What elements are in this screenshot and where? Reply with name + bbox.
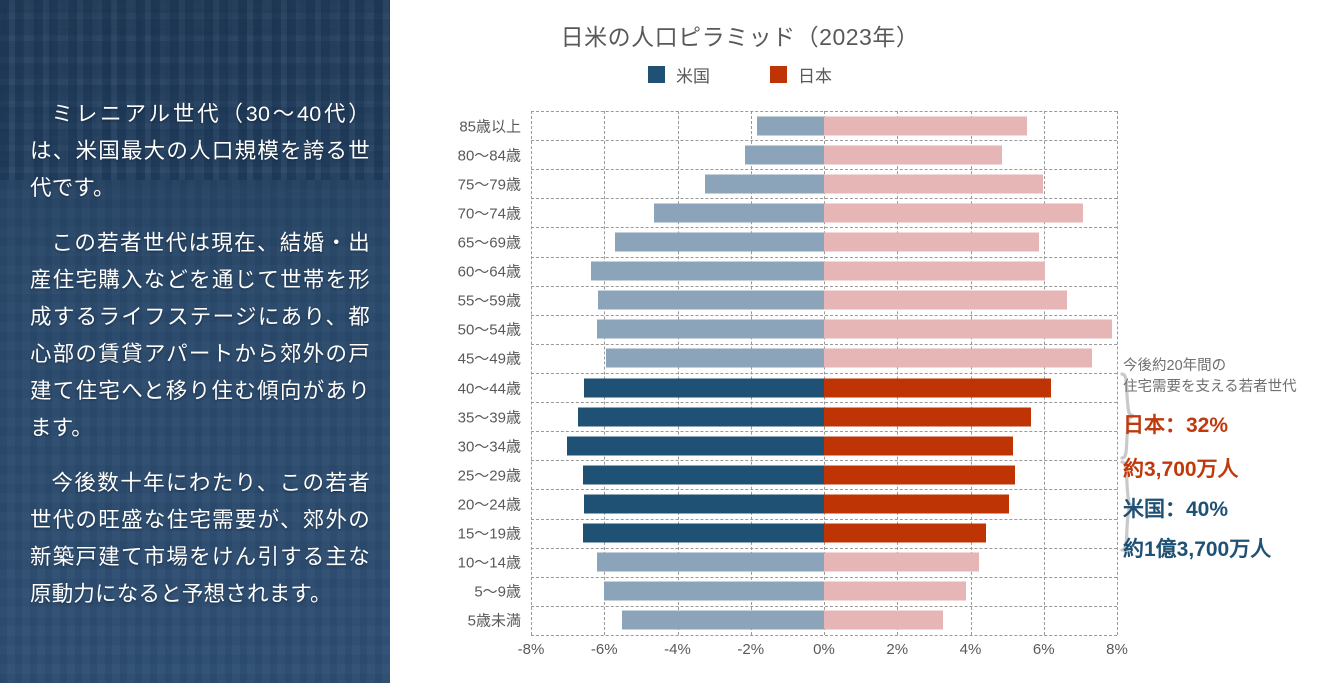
bar-japan[interactable] xyxy=(824,320,1112,339)
y-axis-label: 50〜54歳 xyxy=(458,319,521,340)
y-axis-label: 15〜19歳 xyxy=(458,523,521,544)
chart-row: 5〜9歳 xyxy=(531,577,1117,606)
legend-label-us: 米国 xyxy=(676,62,710,87)
y-axis-label: 65〜69歳 xyxy=(458,231,521,252)
x-axis-tick-label: -2% xyxy=(737,641,764,658)
y-axis-label: 30〜34歳 xyxy=(458,435,521,456)
x-axis-tick-label: 8% xyxy=(1106,641,1128,658)
x-axis-tick-label: -4% xyxy=(664,641,691,658)
bar-us[interactable] xyxy=(597,320,824,339)
annotation-note-line1: 今後約20年間の xyxy=(1123,356,1338,377)
bar-japan[interactable] xyxy=(824,611,943,630)
y-axis-label: 10〜14歳 xyxy=(458,552,521,573)
y-axis-label: 85歳以上 xyxy=(459,115,521,136)
gridline-vertical xyxy=(1117,111,1118,635)
chart-row: 75〜79歳 xyxy=(531,169,1117,198)
paragraph-2: この若者世代は現在、結婚・出産住宅購入などを通じて世帯を形成するライフステージに… xyxy=(30,225,370,447)
annotation-japan-people: 約3,700万人 xyxy=(1123,454,1338,486)
chart-row: 55〜59歳 xyxy=(531,286,1117,315)
bar-us[interactable] xyxy=(583,524,824,543)
bar-us[interactable] xyxy=(584,494,824,513)
annotation-block: 今後約20年間の 住宅需要を支える若者世代 日本：32% 約3,700万人 米国… xyxy=(1123,356,1338,566)
bar-japan[interactable] xyxy=(824,232,1039,251)
bar-us[interactable] xyxy=(598,291,824,310)
bar-us[interactable] xyxy=(591,262,824,281)
y-axis-label: 80〜84歳 xyxy=(458,144,521,165)
y-axis-label: 70〜74歳 xyxy=(458,202,521,223)
bar-us[interactable] xyxy=(567,436,824,455)
chart-row: 10〜14歳 xyxy=(531,548,1117,577)
bar-us[interactable] xyxy=(622,611,824,630)
legend-item-jp[interactable]: 日本 xyxy=(770,62,832,87)
bar-us[interactable] xyxy=(606,349,824,368)
chart-legend: 米国 日本 xyxy=(390,62,1090,87)
y-axis-label: 25〜29歳 xyxy=(458,464,521,485)
chart-row: 40〜44歳 xyxy=(531,373,1117,402)
bar-us[interactable] xyxy=(705,174,824,193)
chart-row: 35〜39歳 xyxy=(531,402,1117,431)
bar-japan[interactable] xyxy=(824,553,979,572)
paragraph-1: ミレニアル世代（30〜40代）は、米国最大の人口規模を誇る世代です。 xyxy=(30,96,370,207)
bar-japan[interactable] xyxy=(824,582,966,601)
chart-title: 日米の人口ピラミッド（2023年） xyxy=(390,18,1090,52)
left-text-panel: ミレニアル世代（30〜40代）は、米国最大の人口規模を誇る世代です。 この若者世… xyxy=(0,0,390,683)
chart-row: 65〜69歳 xyxy=(531,227,1117,256)
x-axis-tick-label: -6% xyxy=(591,641,618,658)
annotation-note-line2: 住宅需要を支える若者世代 xyxy=(1123,377,1338,398)
bar-us[interactable] xyxy=(615,232,824,251)
bar-us[interactable] xyxy=(654,203,824,222)
x-axis-tick-label: 4% xyxy=(960,641,982,658)
bar-japan[interactable] xyxy=(824,465,1015,484)
annotation-japan-pct: 日本：32% xyxy=(1123,410,1338,442)
bar-japan[interactable] xyxy=(824,494,1009,513)
legend-swatch-jp-icon xyxy=(770,66,787,83)
bar-us[interactable] xyxy=(584,378,824,397)
chart-area: 日米の人口ピラミッド（2023年） 米国 日本 85歳以上80〜84歳75〜79… xyxy=(390,0,1343,683)
x-axis-tick-label: 0% xyxy=(813,641,835,658)
bar-japan[interactable] xyxy=(824,116,1027,135)
annotation-us-pct: 米国：40% xyxy=(1123,494,1338,526)
bar-us[interactable] xyxy=(757,116,824,135)
bar-us[interactable] xyxy=(745,145,824,164)
x-axis-tick-label: 6% xyxy=(1033,641,1055,658)
bar-us[interactable] xyxy=(597,553,824,572)
bar-japan[interactable] xyxy=(824,407,1031,426)
chart-row: 45〜49歳 xyxy=(531,344,1117,373)
bar-japan[interactable] xyxy=(824,145,1002,164)
chart-row: 85歳以上 xyxy=(531,111,1117,140)
y-axis-label: 5〜9歳 xyxy=(474,581,521,602)
chart-row: 15〜19歳 xyxy=(531,519,1117,548)
y-axis-label: 55〜59歳 xyxy=(458,290,521,311)
chart-row: 30〜34歳 xyxy=(531,431,1117,460)
plot-area: 85歳以上80〜84歳75〜79歳70〜74歳65〜69歳60〜64歳55〜59… xyxy=(531,111,1117,635)
chart-row: 5歳未満 xyxy=(531,606,1117,635)
bar-us[interactable] xyxy=(583,465,824,484)
y-axis-label: 20〜24歳 xyxy=(458,493,521,514)
chart-row: 20〜24歳 xyxy=(531,489,1117,518)
bar-japan[interactable] xyxy=(824,262,1045,281)
legend-label-jp: 日本 xyxy=(798,62,832,87)
bar-japan[interactable] xyxy=(824,349,1092,368)
chart-row: 50〜54歳 xyxy=(531,315,1117,344)
y-axis-label: 45〜49歳 xyxy=(458,348,521,369)
x-axis-tick-label: 2% xyxy=(886,641,908,658)
x-axis-tick-labels: -8%-6%-4%-2%0%2%4%6%8% xyxy=(531,641,1117,665)
y-axis-label: 5歳未満 xyxy=(468,610,521,631)
bar-japan[interactable] xyxy=(824,436,1013,455)
y-axis-label: 35〜39歳 xyxy=(458,406,521,427)
x-axis-tick-label: -8% xyxy=(518,641,545,658)
chart-row: 70〜74歳 xyxy=(531,198,1117,227)
bar-us[interactable] xyxy=(578,407,824,426)
left-panel-text: ミレニアル世代（30〜40代）は、米国最大の人口規模を誇る世代です。 この若者世… xyxy=(30,96,370,613)
slide-root: ミレニアル世代（30〜40代）は、米国最大の人口規模を誇る世代です。 この若者世… xyxy=(0,0,1343,683)
paragraph-3: 今後数十年にわたり、この若者世代の旺盛な住宅需要が、郊外の新築戸建て市場をけん引… xyxy=(30,465,370,613)
bar-japan[interactable] xyxy=(824,524,986,543)
y-axis-label: 60〜64歳 xyxy=(458,261,521,282)
bar-us[interactable] xyxy=(604,582,824,601)
bar-japan[interactable] xyxy=(824,203,1083,222)
legend-item-us[interactable]: 米国 xyxy=(648,62,710,87)
chart-row: 60〜64歳 xyxy=(531,257,1117,286)
legend-swatch-us-icon xyxy=(648,66,665,83)
gridline-horizontal xyxy=(531,635,1117,636)
y-axis-label: 40〜44歳 xyxy=(458,377,521,398)
bar-japan[interactable] xyxy=(824,378,1051,397)
annotation-us-people: 約1億3,700万人 xyxy=(1123,534,1338,566)
bar-japan[interactable] xyxy=(824,291,1067,310)
chart-row: 80〜84歳 xyxy=(531,140,1117,169)
y-axis-label: 75〜79歳 xyxy=(458,173,521,194)
chart-row: 25〜29歳 xyxy=(531,460,1117,489)
bar-japan[interactable] xyxy=(824,174,1043,193)
